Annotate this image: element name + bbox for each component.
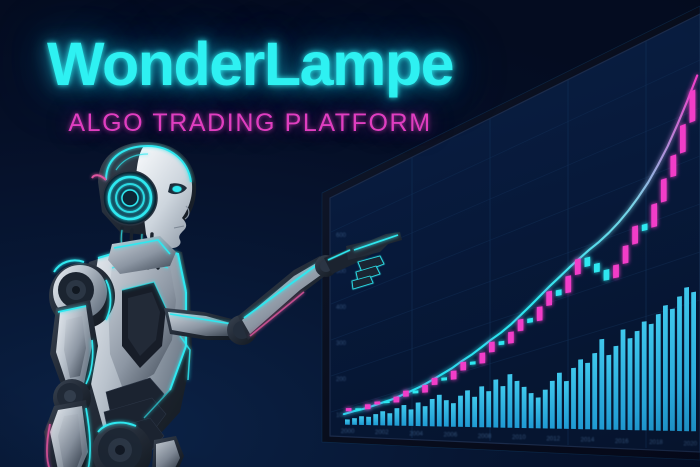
- volume-bar: [430, 399, 435, 427]
- candle-body: [680, 124, 686, 154]
- volume-bar: [557, 373, 562, 429]
- candle-body: [422, 385, 428, 393]
- volume-bar: [486, 391, 491, 427]
- candle-body: [651, 203, 657, 228]
- volume-bar: [656, 314, 661, 431]
- volume-bar: [614, 346, 619, 430]
- volume-bar: [621, 329, 626, 430]
- candle-body: [546, 291, 552, 306]
- volume-bar: [571, 368, 576, 429]
- candle-body: [613, 264, 619, 278]
- candle-body: [690, 90, 696, 124]
- volume-bar: [677, 296, 682, 431]
- candle-body: [604, 269, 610, 281]
- candle-body: [661, 178, 667, 203]
- robot-left-arm: [44, 300, 98, 467]
- candle-body: [575, 258, 581, 275]
- brand-headline: WonderLampe ALGO TRADING PLATFORM: [0, 34, 500, 138]
- x-tick-label: 2012: [546, 435, 560, 442]
- volume-bar: [437, 395, 442, 427]
- candle-body: [556, 289, 562, 296]
- volume-bar: [444, 400, 449, 427]
- candle-body: [432, 378, 438, 386]
- x-tick-label: 2010: [512, 434, 526, 441]
- volume-bar: [423, 406, 428, 426]
- volume-bar: [628, 338, 633, 430]
- x-tick-label: 2006: [444, 432, 458, 439]
- volume-bar: [592, 353, 597, 430]
- candle-body: [489, 342, 495, 353]
- candle-body: [527, 318, 533, 323]
- candle-body: [537, 306, 543, 321]
- volume-bar: [508, 374, 513, 428]
- candle-body: [594, 263, 600, 273]
- volume-bar: [684, 287, 689, 431]
- candle-body: [518, 319, 524, 332]
- humanoid-robot-pointing: [0, 140, 414, 467]
- candle-body: [623, 245, 629, 264]
- hero-banner: 600 500 400 300 200 100 2000200220042006…: [0, 0, 700, 467]
- robot-pointing-arm: [164, 232, 402, 345]
- candle-body: [670, 154, 676, 177]
- robot-hip: [92, 422, 184, 467]
- volume-bar: [536, 397, 541, 428]
- candle-body: [565, 275, 571, 293]
- volume-bar: [543, 390, 548, 429]
- candle-body: [460, 362, 466, 371]
- page-subtitle: ALGO TRADING PLATFORM: [0, 109, 500, 138]
- page-title: WonderLampe: [0, 34, 500, 95]
- volume-bar: [416, 402, 421, 426]
- candle-body: [480, 352, 486, 363]
- candle-body: [585, 257, 591, 268]
- volume-bar: [649, 324, 654, 431]
- candle-body: [451, 371, 457, 380]
- volume-bar: [472, 397, 477, 428]
- volume-bar: [515, 381, 520, 428]
- volume-bar: [465, 390, 470, 427]
- candle-body: [441, 377, 447, 380]
- volume-bar: [479, 386, 484, 427]
- robot-hand: [324, 232, 402, 289]
- candle-body: [499, 341, 505, 346]
- volume-bar: [691, 292, 696, 432]
- robot-eye: [173, 186, 182, 192]
- volume-bar: [670, 309, 675, 431]
- volume-bar: [599, 339, 604, 430]
- volume-bar: [606, 355, 611, 430]
- volume-bar: [642, 321, 647, 430]
- volume-bar: [578, 359, 583, 429]
- volume-bar: [522, 387, 527, 428]
- candle-body: [470, 361, 476, 365]
- volume-bar: [493, 379, 498, 427]
- volume-bar: [451, 403, 456, 427]
- x-tick-label: 2014: [581, 437, 595, 444]
- volume-bar: [585, 363, 590, 430]
- x-tick-label: 2018: [649, 439, 663, 446]
- volume-bar: [663, 305, 668, 431]
- volume-bar: [564, 381, 569, 429]
- candle-body: [632, 225, 638, 244]
- x-tick-label: 2008: [478, 433, 492, 440]
- volume-bar: [529, 393, 534, 428]
- volume-bar: [501, 386, 506, 428]
- x-tick-label: 2020: [683, 440, 697, 447]
- volume-bar: [550, 381, 555, 429]
- x-tick-label: 2016: [615, 438, 629, 445]
- volume-bar: [458, 396, 463, 427]
- volume-bar: [635, 331, 640, 431]
- candle-body: [508, 331, 514, 343]
